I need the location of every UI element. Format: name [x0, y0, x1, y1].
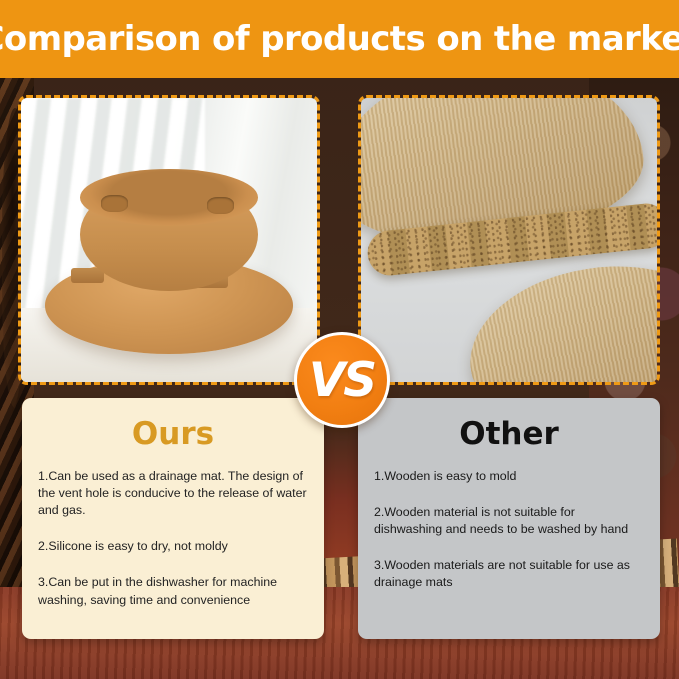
- list-item: 1.Wooden is easy to mold: [374, 468, 644, 485]
- page-title: Comparison of products on the market: [0, 19, 679, 59]
- silicone-mat-vent-hole: [207, 197, 234, 214]
- other-panel-title: Other: [374, 416, 644, 452]
- header-banner: Comparison of products on the market: [0, 0, 679, 78]
- list-item: 3.Can be put in the dishwasher for machi…: [38, 574, 308, 608]
- silicone-mat-vent-hole: [101, 195, 128, 212]
- infographic-canvas: Comparison of products on the market VS …: [0, 0, 679, 679]
- other-comparison-panel: Other 1.Wooden is easy to mold 2.Wooden …: [358, 398, 660, 639]
- list-item: 2.Silicone is easy to dry, not moldy: [38, 538, 308, 555]
- bamboo-board-lower: [458, 249, 657, 382]
- ours-feature-list: 1.Can be used as a drainage mat. The des…: [38, 468, 308, 609]
- list-item: 1.Can be used as a drainage mat. The des…: [38, 468, 308, 519]
- other-feature-list: 1.Wooden is easy to mold 2.Wooden materi…: [374, 468, 644, 592]
- bamboo-board-image: [361, 98, 657, 382]
- vs-label: VS: [309, 353, 375, 408]
- ours-comparison-panel: Ours 1.Can be used as a drainage mat. Th…: [22, 398, 324, 639]
- ours-panel-title: Ours: [38, 416, 308, 452]
- vs-badge: VS: [294, 332, 390, 428]
- silicone-mat-foot: [71, 268, 104, 282]
- list-item: 3.Wooden materials are not suitable for …: [374, 557, 644, 591]
- list-item: 2.Wooden material is not suitable for di…: [374, 504, 644, 538]
- silicone-mat-image: [21, 98, 317, 382]
- ours-product-photo: [18, 95, 320, 385]
- other-product-photo: [358, 95, 660, 385]
